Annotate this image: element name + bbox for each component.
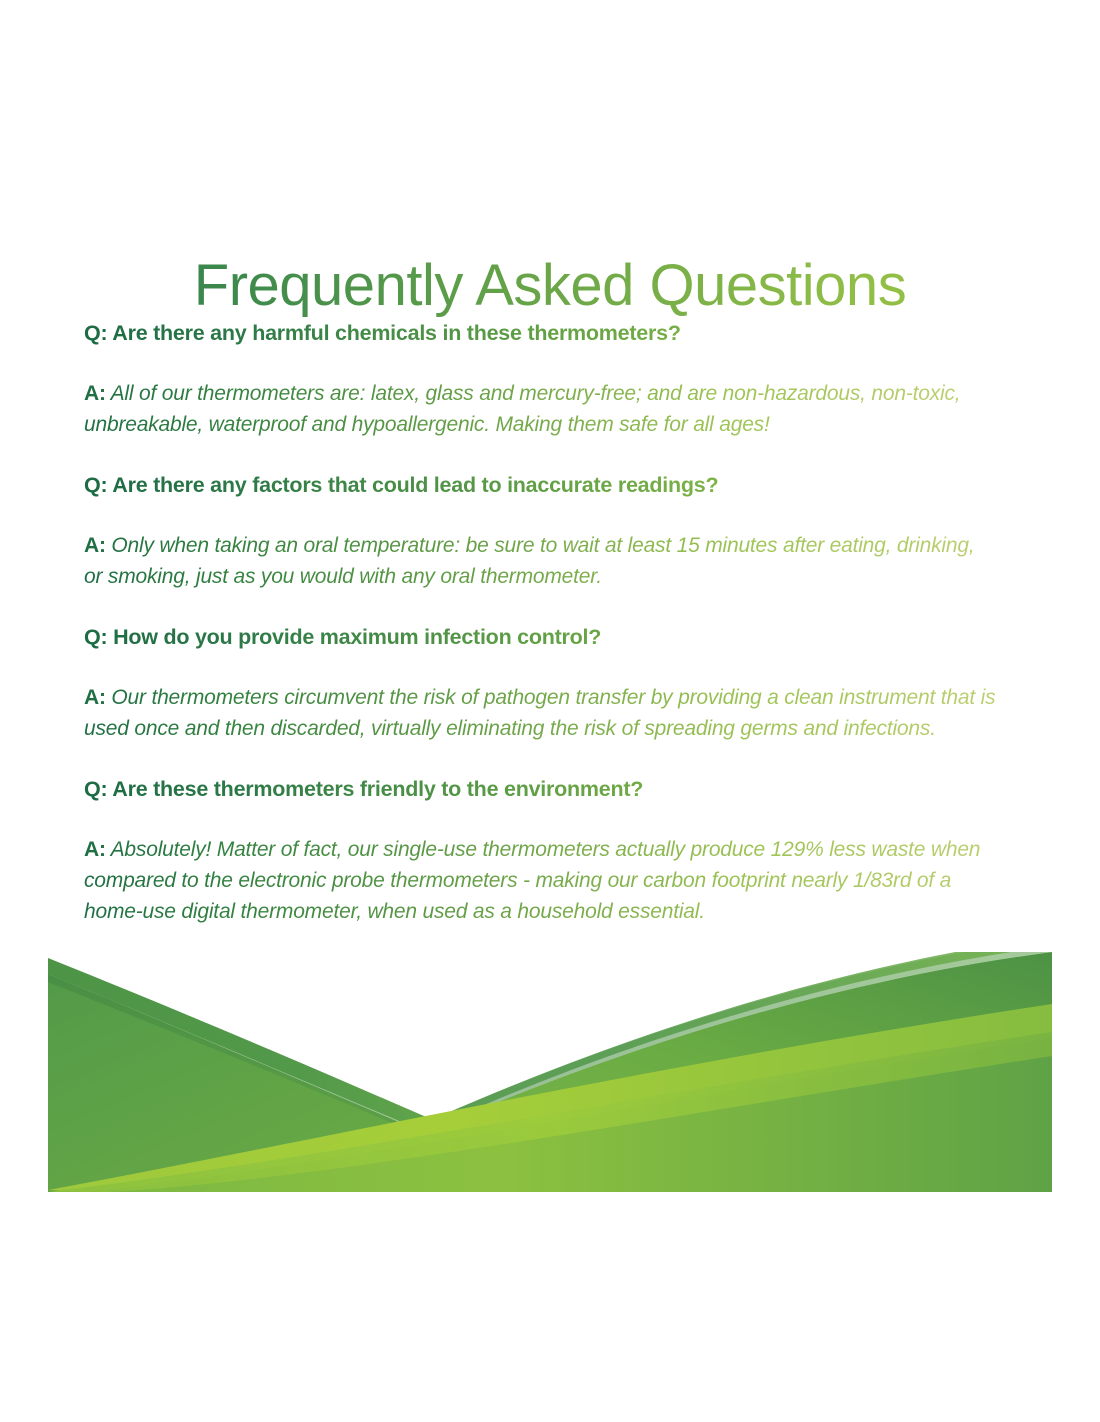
green-swoosh-graphic	[48, 952, 1052, 1192]
answer-text-1: All of our thermometers are: latex, glas…	[84, 382, 960, 436]
answer-label-4: A:	[84, 838, 106, 861]
faq-answer-4: A: Absolutely! Matter of fact, our singl…	[84, 834, 1000, 927]
faq-question-3: Q: How do you provide maximum infection …	[84, 622, 1000, 652]
faq-question-1: Q: Are there any harmful chemicals in th…	[84, 318, 1000, 348]
faq-answer-2: A: Only when taking an oral temperature:…	[84, 530, 984, 592]
page-title: Frequently Asked Questions	[0, 251, 1100, 321]
faq-page: Frequently Asked Questions Q: Are there …	[0, 0, 1100, 1422]
faq-list: Q: Are there any harmful chemicals in th…	[84, 318, 1000, 927]
faq-answer-1: A: All of our thermometers are: latex, g…	[84, 378, 964, 440]
faq-item-2: Q: Are there any factors that could lead…	[84, 470, 1000, 592]
answer-label-1: A:	[84, 382, 106, 405]
answer-label-2: A:	[84, 534, 106, 557]
faq-question-2: Q: Are there any factors that could lead…	[84, 470, 1000, 500]
faq-answer-3: A: Our thermometers circumvent the risk …	[84, 682, 996, 744]
answer-text-3: Our thermometers circumvent the risk of …	[84, 686, 995, 740]
faq-item-4: Q: Are these thermometers friendly to th…	[84, 774, 1000, 927]
answer-label-3: A:	[84, 686, 106, 709]
faq-question-4: Q: Are these thermometers friendly to th…	[84, 774, 1000, 804]
answer-text-2: Only when taking an oral temperature: be…	[84, 534, 975, 588]
faq-item-1: Q: Are there any harmful chemicals in th…	[84, 318, 1000, 440]
answer-text-4: Absolutely! Matter of fact, our single-u…	[84, 838, 980, 923]
faq-item-3: Q: How do you provide maximum infection …	[84, 622, 1000, 744]
